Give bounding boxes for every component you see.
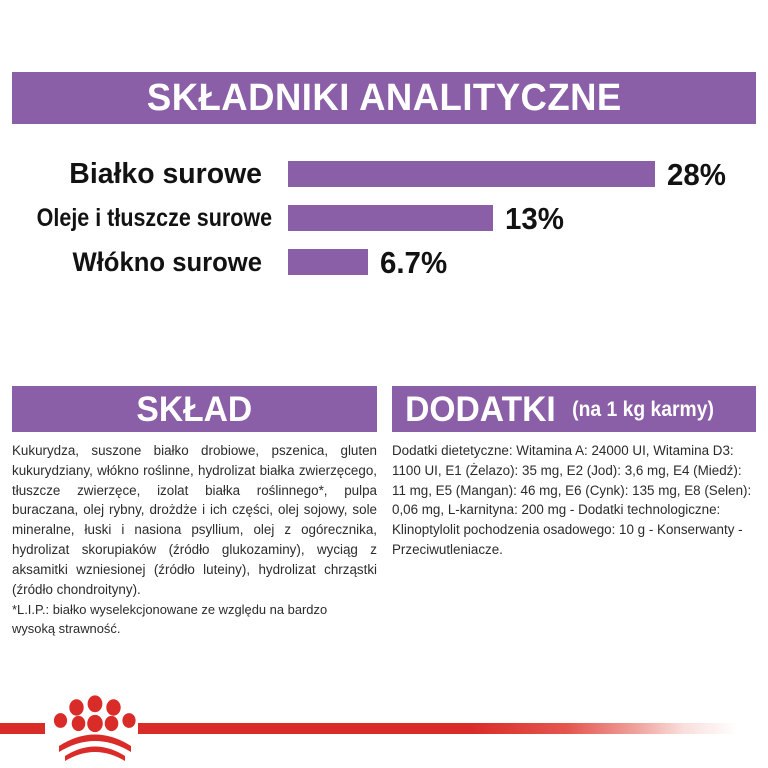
additives-text: Dodatki dietetyczne: Witamina A: 24000 U… xyxy=(392,441,756,560)
chart-row: Włókno surowe 6.7% xyxy=(0,240,768,284)
bar-fill xyxy=(288,161,655,187)
bar-track: 13% xyxy=(288,205,768,231)
bar-label: Białko surowe xyxy=(5,160,262,189)
chart-row: Białko surowe 28% xyxy=(0,152,768,196)
brand-footer xyxy=(0,718,768,768)
composition-header: SKŁAD xyxy=(12,386,377,432)
additives-subheading: (na 1 kg karmy) xyxy=(572,399,714,420)
composition-text: Kukurydza, suszone białko drobiowe, psze… xyxy=(12,441,377,600)
bar-track: 6.7% xyxy=(288,249,768,275)
additives-header: DODATKI (na 1 kg karmy) xyxy=(392,386,756,432)
bar-label: Oleje i tłuszcze surowe xyxy=(37,206,262,231)
bar-value: 28% xyxy=(667,159,726,190)
bar-label: Włókno surowe xyxy=(13,249,262,276)
bar-fill xyxy=(288,249,368,275)
composition-column: SKŁAD Kukurydza, suszone białko drobiowe… xyxy=(12,386,377,639)
royal-canin-crown-logo xyxy=(52,692,138,762)
analytical-constituents-chart: Białko surowe 28% Oleje i tłuszcze surow… xyxy=(0,152,768,284)
composition-heading: SKŁAD xyxy=(137,392,253,427)
details-columns: SKŁAD Kukurydza, suszone białko drobiowe… xyxy=(0,386,768,639)
chart-row: Oleje i tłuszcze surowe 13% xyxy=(0,196,768,240)
footer-rule-left xyxy=(0,723,45,734)
additives-column: DODATKI (na 1 kg karmy) Dodatki dietetyc… xyxy=(392,386,756,639)
bar-value: 6.7% xyxy=(380,247,447,278)
analytical-constituents-banner: SKŁADNIKI ANALITYCZNE xyxy=(12,72,756,124)
bar-fill xyxy=(288,205,493,231)
banner-title: SKŁADNIKI ANALITYCZNE xyxy=(147,79,622,117)
product-info-panel: SKŁADNIKI ANALITYCZNE Białko surowe 28% … xyxy=(0,0,768,768)
bar-value: 13% xyxy=(505,203,564,234)
footer-rule-right xyxy=(138,723,740,734)
bar-track: 28% xyxy=(288,161,768,187)
additives-heading: DODATKI xyxy=(405,392,556,427)
composition-footnote: *L.I.P.: białko wyselekcjonowane ze wzgl… xyxy=(12,600,370,639)
